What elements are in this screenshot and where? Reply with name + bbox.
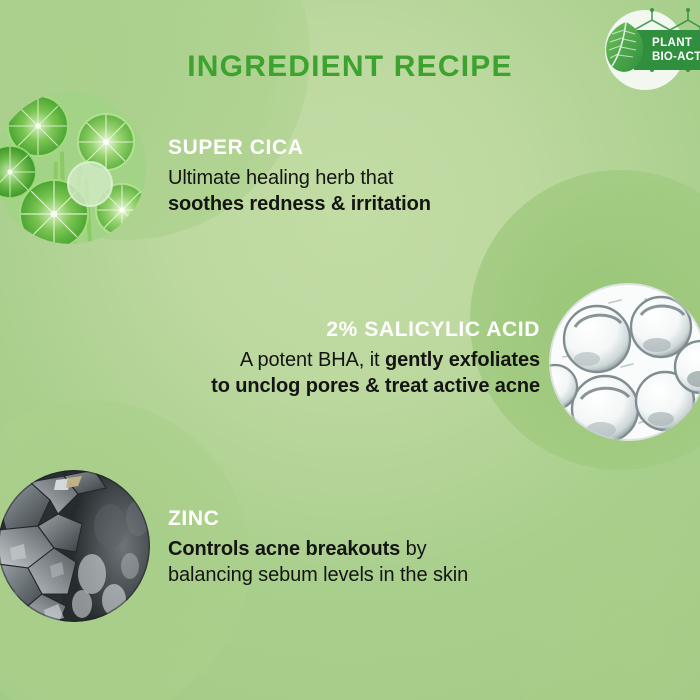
ingredient-line-2-bold: soothes redness & irritation [168,193,431,215]
ingredient-line-1-bold: Controls acne breakouts [168,538,400,560]
ingredient-line-1-plain: by [400,538,426,560]
ingredient-line-1: A potent BHA, it gently exfoliates [150,347,540,373]
ingredient-block-super-cica: SUPER CICA Ultimate healing herb that so… [168,134,538,217]
ingredient-heading-salicylic-acid: 2% SALICYLIC ACID [150,316,540,343]
ingredient-line-2-plain: balancing sebum levels in the skin [168,564,468,586]
ingredient-heading-zinc: ZINC [168,505,548,532]
ingredient-block-salicylic-acid: 2% SALICYLIC ACID A potent BHA, it gentl… [150,316,540,399]
logo-line2: BIO-ACTIVES [652,51,700,63]
ingredient-recipe-poster: INGREDIENT RECIPE [0,0,700,700]
plant-bio-actives-logo: PLANT BIO-ACTIVES [590,8,700,92]
ingredient-heading-super-cica: SUPER CICA [168,134,538,161]
ingredient-line-1: Ultimate healing herb that [168,165,538,191]
centella-leaves-photo [0,92,146,244]
ingredient-line-2: soothes redness & irritation [168,191,538,217]
zinc-mineral-photo [0,470,150,622]
ingredient-line-2: balancing sebum levels in the skin [168,562,548,588]
ingredient-line-1: Controls acne breakouts by [168,536,548,562]
clear-gel-bubbles-photo [549,283,700,441]
logo-line1: PLANT [652,37,692,49]
ingredient-line-1-plain: Ultimate healing herb that [168,167,393,189]
ingredient-line-1-plain: A potent BHA, it [240,349,385,371]
ingredient-line-2: to unclog pores & treat active acne [150,373,540,399]
ingredient-line-2-bold: to unclog pores & treat active acne [211,375,540,397]
ingredient-block-zinc: ZINC Controls acne breakouts by balancin… [168,505,548,588]
ingredient-line-1-bold: gently exfoliates [385,349,540,371]
